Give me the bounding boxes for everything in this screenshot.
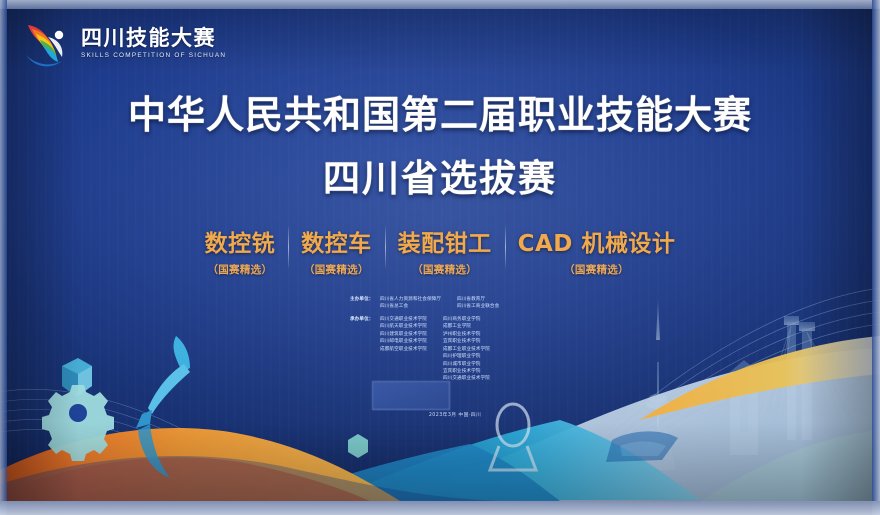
undertaker-right-column: 四川商务职业学院 成都工业学院 泸州职业技术学院 宜宾职业技术学院 成都工业职业… [443, 316, 490, 383]
undertaker-org: 宜宾职业技术学院 [443, 338, 490, 345]
redacted-plate [372, 381, 450, 410]
undertaker-org: 泸州职业技术学院 [443, 331, 490, 338]
host-org: 四川省工商业联合会 [457, 303, 499, 310]
organizer-credits: 主办单位： 四川省人力资源和社会保障厅 四川省总工会 四川省教育厅 四川省工商业… [350, 296, 560, 388]
undertaker-org: 成都工业职业技术学院 [443, 346, 490, 353]
category-item: CAD 机械设计 （国赛精选） [505, 224, 689, 277]
host-right-column: 四川省教育厅 四川省工商业联合会 [457, 296, 499, 311]
category-note: （国赛精选） [301, 262, 372, 277]
category-list: 数控铣 （国赛精选） 数控车 （国赛精选） 装配钳工 （国赛精选） CAD 机械… [0, 224, 880, 277]
undertaker-org: 四川交通职业技术学院 [380, 316, 427, 323]
host-block: 主办单位： 四川省人力资源和社会保障厅 四川省总工会 四川省教育厅 四川省工商业… [350, 296, 560, 311]
backdrop-frame-bottom [0, 501, 880, 515]
title-block: 中华人民共和国第二届职业技能大赛 四川省选拔赛 [0, 84, 880, 202]
sichuan-skills-mark-icon [18, 15, 74, 73]
undertaker-org: 四川航天职业技术学院 [380, 323, 427, 330]
page-title: 中华人民共和国第二届职业技能大赛 [0, 84, 880, 139]
category-name: 装配钳工 [398, 224, 492, 258]
undertaker-left-column: 四川交通职业技术学院 四川航天职业技术学院 四川建筑职业技术学院 四川邮电职业技… [380, 316, 427, 383]
undertaker-org: 成都工业学院 [443, 323, 490, 330]
host-org: 四川省总工会 [380, 303, 441, 310]
stage-backdrop-photo: 四川技能大赛 SKILLS COMPETITION OF SICHUAN 中华人… [0, 0, 880, 515]
undertaker-org: 四川城市职业学院 [443, 361, 490, 368]
page-subtitle: 四川省选拔赛 [0, 148, 880, 202]
undertaker-org: 四川邮电职业技术学院 [380, 338, 427, 345]
category-item: 装配钳工 （国赛精选） [385, 224, 505, 277]
undertaker-org: 四川商务职业学院 [443, 316, 490, 323]
category-name: CAD 机械设计 [518, 224, 676, 258]
logo-chinese-name: 四川技能大赛 [81, 28, 226, 49]
host-org: 四川省人力资源和社会保障厅 [380, 296, 441, 303]
backdrop-frame-top [0, 0, 880, 9]
logo-english-name: SKILLS COMPETITION OF SICHUAN [81, 53, 226, 59]
event-logo: 四川技能大赛 SKILLS COMPETITION OF SICHUAN [18, 15, 226, 73]
host-org: 四川省教育厅 [457, 296, 499, 303]
category-note: （国赛精选） [518, 262, 676, 277]
undertaker-org: 四川建筑职业技术学院 [380, 331, 427, 338]
category-name: 数控铣 [205, 224, 276, 258]
category-note: （国赛精选） [205, 262, 276, 277]
undertaker-block: 承办单位： 四川交通职业技术学院 四川航天职业技术学院 四川建筑职业技术学院 四… [350, 316, 560, 383]
category-item: 数控车 （国赛精选） [288, 224, 385, 277]
category-name: 数控车 [301, 224, 372, 258]
category-note: （国赛精选） [398, 262, 492, 277]
undertaker-label: 承办单位： [350, 316, 380, 383]
event-datestamp: 2023年3月 中国·四川 [350, 411, 560, 418]
category-item: 数控铣 （国赛精选） [192, 224, 289, 277]
host-label: 主办单位： [350, 296, 380, 311]
host-left-column: 四川省人力资源和社会保障厅 四川省总工会 [380, 296, 441, 311]
undertaker-org: 四川护理职业学院 [443, 353, 490, 360]
undertaker-org: 宜宾职业技术学院 [443, 368, 490, 375]
undertaker-org: 成都航空职业技术学院 [380, 346, 427, 353]
